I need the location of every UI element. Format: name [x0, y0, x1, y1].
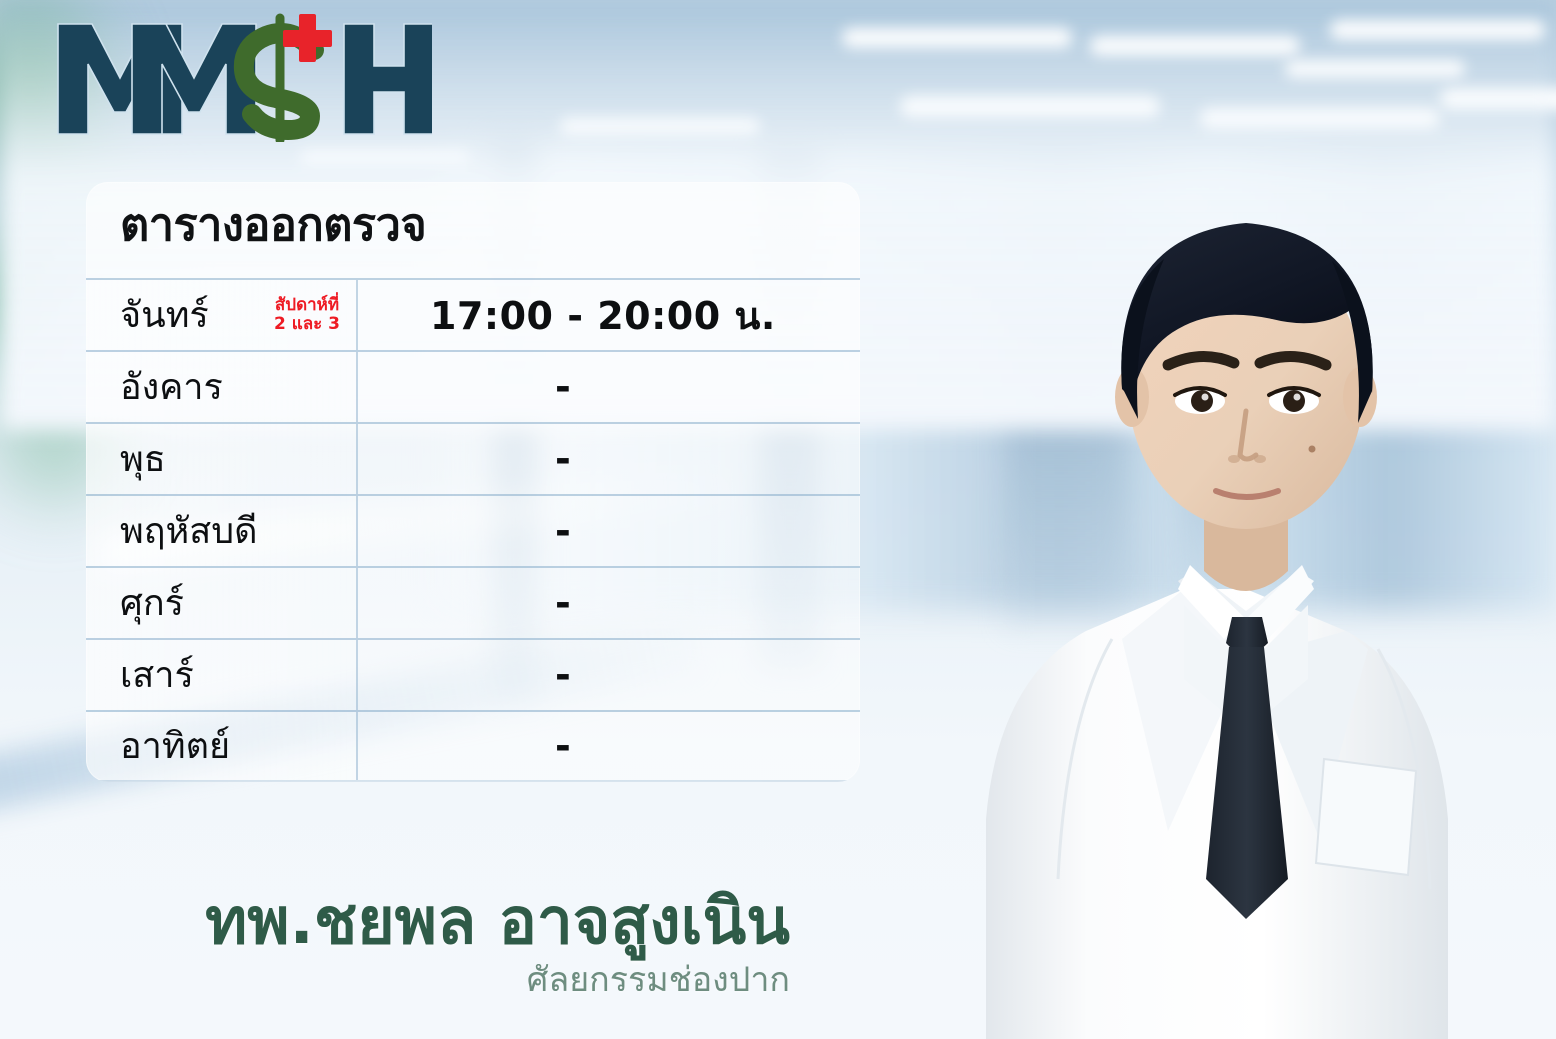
time-label: -: [430, 581, 571, 625]
time-cell: -: [358, 424, 860, 494]
day-label: อาทิตย์: [120, 724, 230, 769]
day-label: พฤหัสบดี: [120, 509, 257, 554]
week-note: สัปดาห์ที่ 2 และ 3: [274, 296, 340, 334]
table-row: อาทิตย์ -: [86, 710, 860, 782]
table-row: อังคาร -: [86, 350, 860, 422]
time-label: -: [430, 653, 571, 697]
day-cell: เสาร์: [86, 640, 358, 710]
week-note-line-2: 2 และ 3: [274, 314, 340, 334]
medical-cross-icon: [283, 14, 332, 62]
table-row: พฤหัสบดี -: [86, 494, 860, 566]
schedule-card: ตารางออกตรวจ จันทร์ สัปดาห์ที่ 2 และ 3 1…: [86, 182, 860, 782]
day-cell: จันทร์ สัปดาห์ที่ 2 และ 3: [86, 280, 358, 350]
week-note-line-1: สัปดาห์ที่: [275, 295, 339, 315]
doctor-name: ทพ.ชยพล อาจสูงเนิน: [150, 887, 790, 959]
table-row: ศุกร์ -: [86, 566, 860, 638]
time-cell: -: [358, 496, 860, 566]
time-cell: 17:00 - 20:00 น.: [358, 280, 860, 350]
day-label: ศุกร์: [120, 581, 184, 626]
table-row: เสาร์ -: [86, 638, 860, 710]
logo-letter-h: [344, 24, 432, 134]
time-cell: -: [358, 712, 860, 780]
time-label: -: [430, 724, 571, 768]
day-cell: อังคาร: [86, 352, 358, 422]
mmsh-logo: [52, 12, 432, 142]
table-row: จันทร์ สัปดาห์ที่ 2 และ 3 17:00 - 20:00 …: [86, 278, 860, 350]
doctor-name-block: ทพ.ชยพล อาจสูงเนิน ศัลยกรรมช่องปาก: [150, 887, 1180, 1001]
day-cell: อาทิตย์: [86, 712, 358, 780]
table-row: พุธ -: [86, 422, 860, 494]
day-label: อังคาร: [120, 365, 223, 410]
time-label: -: [430, 437, 571, 481]
time-label: 17:00 - 20:00 น.: [430, 285, 776, 346]
day-cell: พฤหัสบดี: [86, 496, 358, 566]
time-label: -: [430, 365, 571, 409]
time-cell: -: [358, 352, 860, 422]
clinic-schedule-poster: ตารางออกตรวจ จันทร์ สัปดาห์ที่ 2 และ 3 1…: [0, 0, 1556, 1039]
day-label: จันทร์: [120, 293, 209, 338]
time-label: -: [430, 509, 571, 553]
doctor-specialty: ศัลยกรรมช่องปาก: [150, 960, 790, 1001]
day-label: พุธ: [120, 437, 166, 482]
day-cell: ศุกร์: [86, 568, 358, 638]
time-cell: -: [358, 640, 860, 710]
day-cell: พุธ: [86, 424, 358, 494]
time-cell: -: [358, 568, 860, 638]
page-title: ตารางออกตรวจ: [120, 200, 426, 250]
day-label: เสาร์: [120, 653, 194, 698]
schedule-table: จันทร์ สัปดาห์ที่ 2 และ 3 17:00 - 20:00 …: [86, 278, 860, 782]
